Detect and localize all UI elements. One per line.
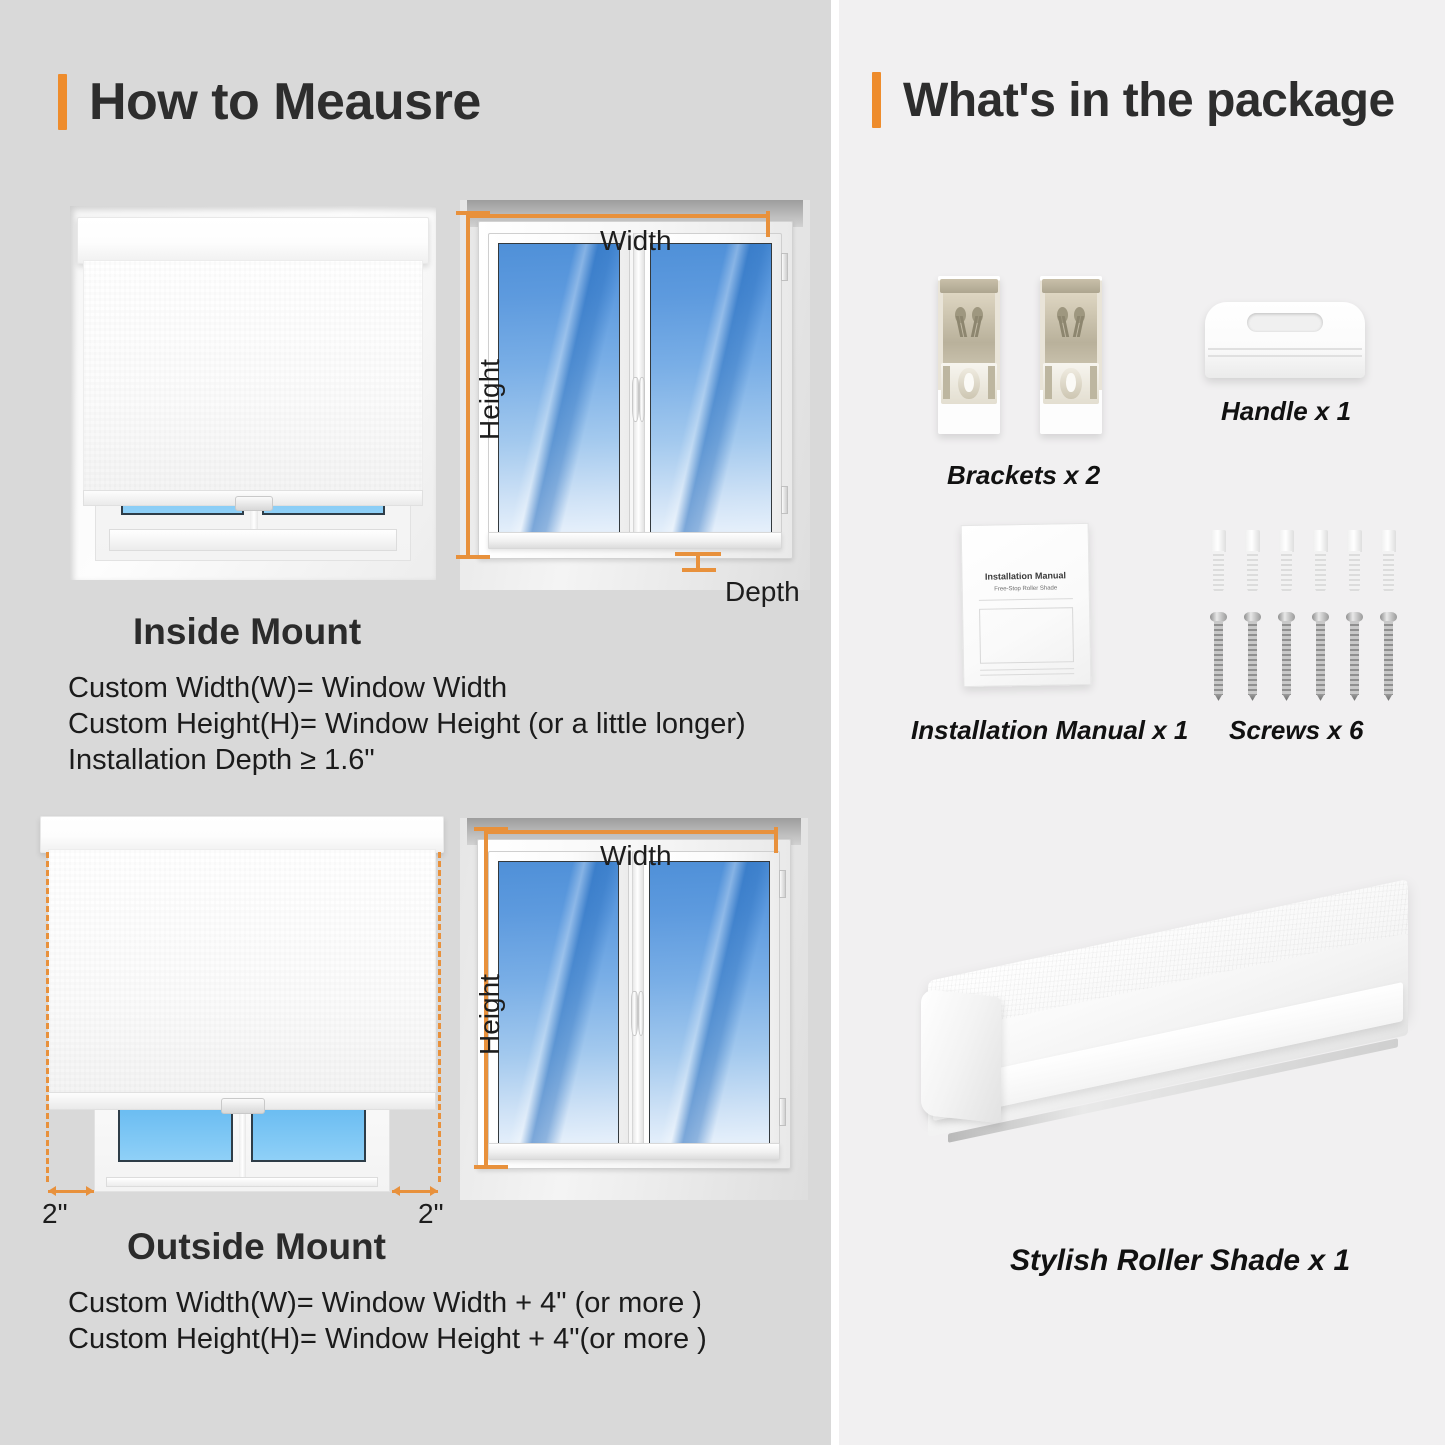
manual-cover-subtitle: Free-Stop Roller Shade [973,585,1079,593]
screws-label: Screws x 6 [1229,715,1363,746]
bracket-top-plate [1042,279,1100,293]
screw [1280,612,1293,700]
shade-pull-handle [221,1098,264,1114]
window-glass-right [650,243,772,533]
glass-reflection [650,861,771,1144]
installation-manual-label: Installation Manual x 1 [911,715,1188,746]
inside-mount-caption: Inside Mount [133,611,361,653]
bracket-part-1 [938,276,1000,434]
window-hinge-bottom [781,486,788,514]
shade-valance [40,816,444,853]
screw [1212,612,1225,700]
outside-mount-line-1: Custom Width(W)= Window Width + 4" (or m… [68,1285,702,1322]
handle-slot [1247,313,1324,332]
screw [1382,612,1395,700]
shade-pull-handle [235,496,274,511]
width-measure-line [470,214,770,218]
wall-anchor [1313,530,1328,592]
handle-label: Handle x 1 [1221,396,1351,427]
wall-anchor [1381,530,1396,592]
screw [1348,612,1361,700]
overhang-label-left: 2" [42,1198,68,1230]
manual-cover-title: Installation Manual [972,570,1078,582]
wall-anchor [1279,530,1294,592]
manual-rule [980,668,1073,671]
manual-rule [979,598,1072,601]
overhang-arrow-right [392,1190,438,1193]
manual-rule [981,673,1074,676]
depth-label-inside: Depth [725,576,800,608]
window-sash-left [488,233,630,543]
bracket-pin-socket [1060,368,1081,400]
bracket-tab-left [1045,366,1052,399]
window-handle-right [639,377,646,423]
height-tick-bottom [456,555,490,559]
handle-ridge [1208,348,1362,350]
inside-mount-window-diagram [460,200,810,590]
window-sash-left [488,851,630,1154]
roller-shade-product [918,900,1418,1200]
width-tick-right [766,211,770,237]
overhang-label-right: 2" [418,1198,444,1230]
glass-reflection [499,861,620,1144]
height-measure-line [466,214,470,558]
bracket-tab-right [1090,366,1097,399]
roller-shade-end-cap [921,989,1001,1123]
window-glass-left [498,243,620,533]
handle-ridge [1208,355,1362,357]
window-hinge-top [779,870,786,898]
accent-bar-left [58,74,67,130]
overhang-arrow-left [48,1190,94,1193]
width-label-outside: Width [600,840,672,872]
window-handles [631,991,643,1034]
glass-reflection [498,243,620,533]
window-sash-right [640,233,782,543]
outside-mount-window-diagram [460,818,808,1200]
screw [1314,612,1327,700]
accent-bar-right [872,72,881,128]
shade-valance [77,217,429,264]
package-title: What's in the package [903,73,1395,128]
window-hinge-top [781,253,788,281]
width-tick-right [774,827,778,853]
bracket-top-plate [940,279,998,293]
inside-mount-line-1: Custom Width(W)= Window Width [68,670,507,707]
bracket-part-2 [1040,276,1102,434]
handle-part [1205,302,1365,378]
window-inner-sill [488,1143,781,1160]
window-inner-sill [488,532,782,549]
wall-anchor [1347,530,1362,592]
shade-fabric [48,849,435,1094]
window-sill [109,529,397,550]
how-to-measure-header: How to Meausre [58,72,481,132]
inside-mount-line-2: Custom Height(H)= Window Height (or a li… [68,706,746,743]
bracket-tab-left [943,366,950,399]
how-to-measure-title: How to Meausre [89,72,481,132]
screw [1246,612,1259,700]
bracket-pin-socket [958,368,979,400]
window-handles [632,377,645,421]
outside-mount-shade-illustration [36,812,448,1204]
installation-manual-part: Installation Manual Free-Stop Roller Sha… [961,523,1092,687]
window-hinge-bottom [779,1098,786,1126]
glass-reflection [650,243,772,533]
bracket-tab-right [988,366,995,399]
shade-fabric [83,260,424,494]
window-glass-left [498,861,620,1144]
window-handle-right [638,991,644,1036]
brackets-label: Brackets x 2 [947,460,1100,491]
inside-mount-shade-illustration [58,198,448,588]
wall-anchor [1245,530,1260,592]
window-frame [478,221,793,558]
window-recess [70,206,437,580]
width-label-inside: Width [600,225,672,257]
width-measure-line [488,830,778,834]
height-label-outside: Height [474,974,506,1055]
window-sill [106,1177,377,1187]
window-handle-left [631,991,637,1036]
window-sash-right [639,851,781,1154]
height-tick-bottom [474,1165,508,1169]
wall-anchor [1211,530,1226,592]
package-header: What's in the package [872,72,1395,128]
window-handle-left [632,377,639,423]
inside-mount-line-3: Installation Depth ≥ 1.6" [68,742,375,779]
height-label-inside: Height [474,359,506,440]
window-glass-right [649,861,771,1144]
window-frame [477,839,790,1169]
overhang-guide-left [46,852,49,1182]
depth-measure-base [682,568,716,572]
roller-shade-label: Stylish Roller Shade x 1 [1010,1244,1350,1278]
overhang-guide-right [438,852,441,1182]
manual-diagram-box [979,607,1073,663]
outside-mount-line-2: Custom Height(H)= Window Height + 4"(or … [68,1321,707,1358]
panel-divider [831,0,839,1445]
infographic-page: How to Meausre What's in the package [0,0,1445,1445]
outside-mount-caption: Outside Mount [127,1226,386,1268]
